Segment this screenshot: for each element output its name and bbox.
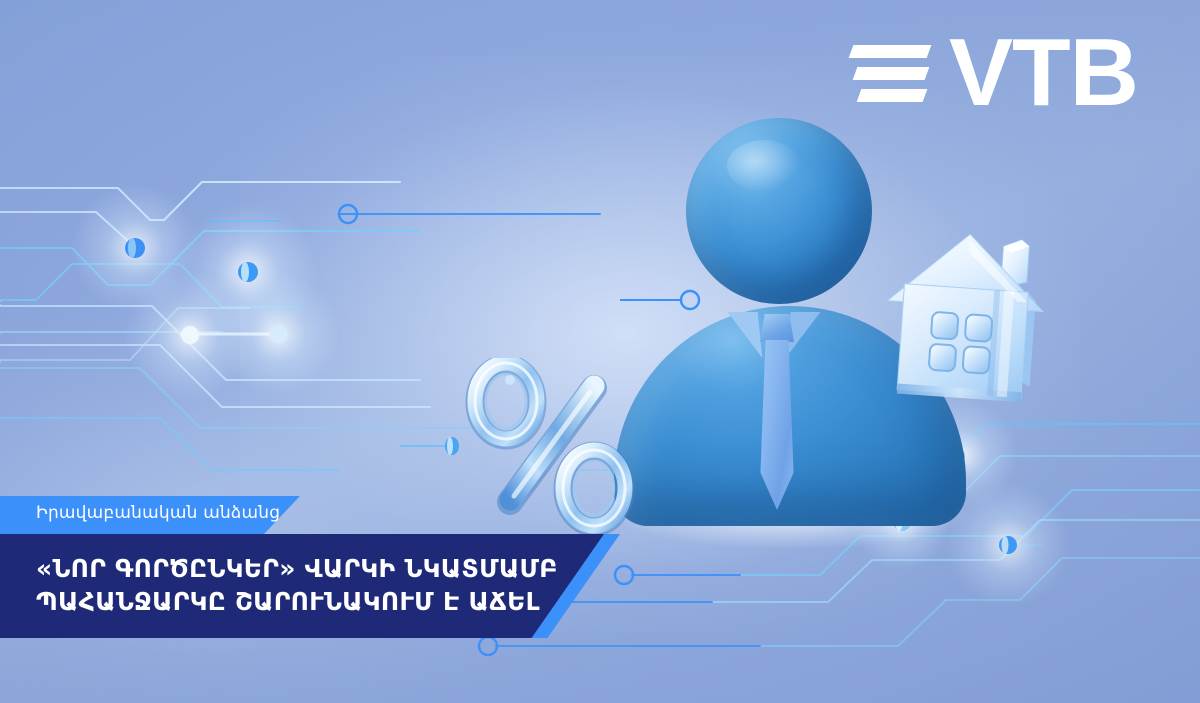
- vtb-bar-2: [853, 67, 930, 80]
- vtb-bar-3: [857, 89, 928, 102]
- vtb-bars-icon: [851, 45, 929, 102]
- vtb-logo[interactable]: VTB: [851, 34, 1138, 113]
- person-head: [686, 118, 872, 304]
- headline-line-2: ՊԱՀԱՆՋԱՐԿԸ ՇԱՐՈՒՆԱԿՈՒՄ Է ԱՃԵԼ: [36, 585, 576, 618]
- collar-left: [728, 312, 763, 358]
- audience-badge: Իրավաբանական անձանց: [0, 496, 300, 534]
- headline-line-1: «ՆՈՐ ԳՈՐԾԸՆԿԵՐ» ՎԱՐԿԻ ՆԿԱՏՄԱՄԲ: [36, 554, 558, 583]
- glass-house-3d-icon: [876, 222, 1052, 422]
- tie-knot: [760, 314, 794, 342]
- badge-label: Իրավաբանական անձանց: [36, 503, 280, 523]
- headline-block: «ՆՈՐ ԳՈՐԾԸՆԿԵՐ» ՎԱՐԿԻ ՆԿԱՏՄԱՄԲ ՊԱՀԱՆՋԱՐԿ…: [0, 534, 620, 638]
- headline: «ՆՈՐ ԳՈՐԾԸՆԿԵՐ» ՎԱՐԿԻ ՆԿԱՏՄԱՄԲ ՊԱՀԱՆՋԱՐԿ…: [36, 552, 576, 618]
- vtb-bar-1: [849, 45, 932, 58]
- promo-banner: Իրավաբանական անձանց «ՆՈՐ ԳՈՐԾԸՆԿԵՐ» ՎԱՐԿ…: [0, 0, 1200, 703]
- vtb-wordmark: VTB: [949, 34, 1138, 113]
- promo-text-block: Իրավաբանական անձանց «ՆՈՐ ԳՈՐԾԸՆԿԵՐ» ՎԱՐԿ…: [0, 496, 640, 638]
